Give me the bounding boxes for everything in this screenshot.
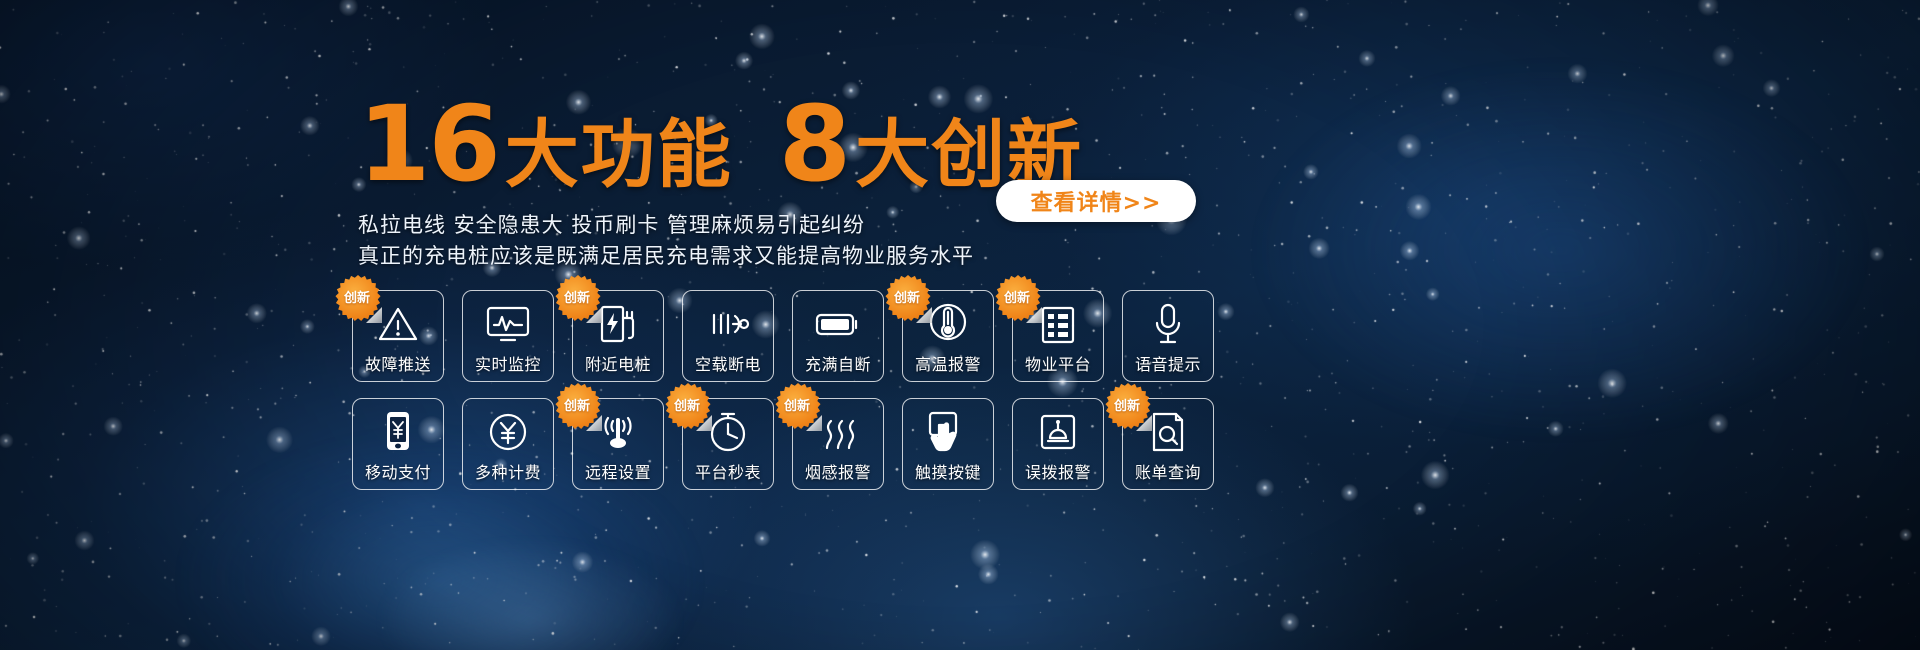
feature-label: 物业平台 [1025,351,1091,375]
feature-count-number: 16 [358,92,499,196]
touch-hand-icon [903,407,993,457]
feature-tile-thermometer[interactable]: 创新高温报警 [902,290,994,382]
innovation-badge: 创新 [335,275,381,321]
plug-power-off-icon [683,299,773,349]
yuan-circle-icon [463,407,553,457]
feature-tile-warning-triangle[interactable]: 创新故障推送 [352,290,444,382]
feature-tile-plug-power-off[interactable]: 空载断电 [682,290,774,382]
innovation-badge: 创新 [555,383,601,429]
feature-tile-microphone[interactable]: 语音提示 [1122,290,1214,382]
microphone-icon [1123,299,1213,349]
feature-label: 充满自断 [805,351,871,375]
feature-tile-battery-full[interactable]: 充满自断 [792,290,884,382]
innovation-badge-label: 创新 [1004,287,1030,306]
innovation-count-number: 8 [779,92,849,196]
feature-count-label: 大功能 [505,118,733,192]
innovation-badge: 创新 [775,383,821,429]
innovation-badge-label: 创新 [564,395,590,414]
feature-tile-charging-pile[interactable]: 创新附近电桩 [572,290,664,382]
feature-tile-yuan-circle[interactable]: 多种计费 [462,398,554,490]
feature-label: 误拨报警 [1025,459,1091,483]
feature-tile-stopwatch[interactable]: 创新平台秒表 [682,398,774,490]
monitor-waveform-icon [463,299,553,349]
feature-label: 触摸按键 [915,459,981,483]
feature-label: 平台秒表 [695,459,761,483]
promo-banner: 16 大功能 8 大创新 查看详情>> 私拉电线 安全隐患大 投币刷卡 管理麻烦… [0,0,1920,650]
feature-grid: 创新故障推送实时监控创新附近电桩空载断电充满自断创新高温报警创新物业平台语音提示… [352,290,1222,502]
feature-tile-monitor-waveform[interactable]: 实时监控 [462,290,554,382]
innovation-badge-label: 创新 [784,395,810,414]
feature-label: 账单查询 [1135,459,1201,483]
innovation-badge-label: 创新 [674,395,700,414]
phone-yuan-icon [353,407,443,457]
innovation-badge: 创新 [885,275,931,321]
innovation-badge-label: 创新 [344,287,370,306]
innovation-badge: 创新 [555,275,601,321]
innovation-badge: 创新 [665,383,711,429]
feature-tile-phone-yuan[interactable]: 移动支付 [352,398,444,490]
innovation-badge-label: 创新 [1114,395,1140,414]
innovation-badge: 创新 [1105,383,1151,429]
innovation-badge-label: 创新 [564,287,590,306]
feature-label: 多种计费 [475,459,541,483]
feature-label: 附近电桩 [585,351,651,375]
feature-tile-touch-hand[interactable]: 触摸按键 [902,398,994,490]
innovation-badge-label: 创新 [894,287,920,306]
feature-tile-building[interactable]: 创新物业平台 [1012,290,1104,382]
feature-label: 语音提示 [1135,351,1201,375]
subtitle-block: 私拉电线 安全隐患大 投币刷卡 管理麻烦易引起纠纷 真正的充电桩应该是既满足居民… [358,210,974,272]
feature-tile-antenna-signal[interactable]: 创新远程设置 [572,398,664,490]
feature-label: 远程设置 [585,459,651,483]
alarm-bell-icon [1013,407,1103,457]
subtitle-line-1: 私拉电线 安全隐患大 投币刷卡 管理麻烦易引起纠纷 [358,210,974,241]
banner-content: 16 大功能 8 大创新 查看详情>> 私拉电线 安全隐患大 投币刷卡 管理麻烦… [0,0,1920,650]
feature-label: 烟感报警 [805,459,871,483]
feature-label: 高温报警 [915,351,981,375]
feature-label: 实时监控 [475,351,541,375]
feature-label: 移动支付 [365,459,431,483]
feature-tile-alarm-bell[interactable]: 误拨报警 [1012,398,1104,490]
feature-label: 空载断电 [695,351,761,375]
battery-full-icon [793,299,883,349]
feature-label: 故障推送 [365,351,431,375]
innovation-badge: 创新 [995,275,1041,321]
feature-tile-smoke-detector[interactable]: 创新烟感报警 [792,398,884,490]
page-title: 16 大功能 8 大创新 [358,92,1083,196]
subtitle-line-2: 真正的充电桩应该是既满足居民充电需求又能提高物业服务水平 [358,241,974,272]
feature-tile-bill-search[interactable]: 创新账单查询 [1122,398,1214,490]
view-details-button[interactable]: 查看详情>> [996,180,1196,222]
